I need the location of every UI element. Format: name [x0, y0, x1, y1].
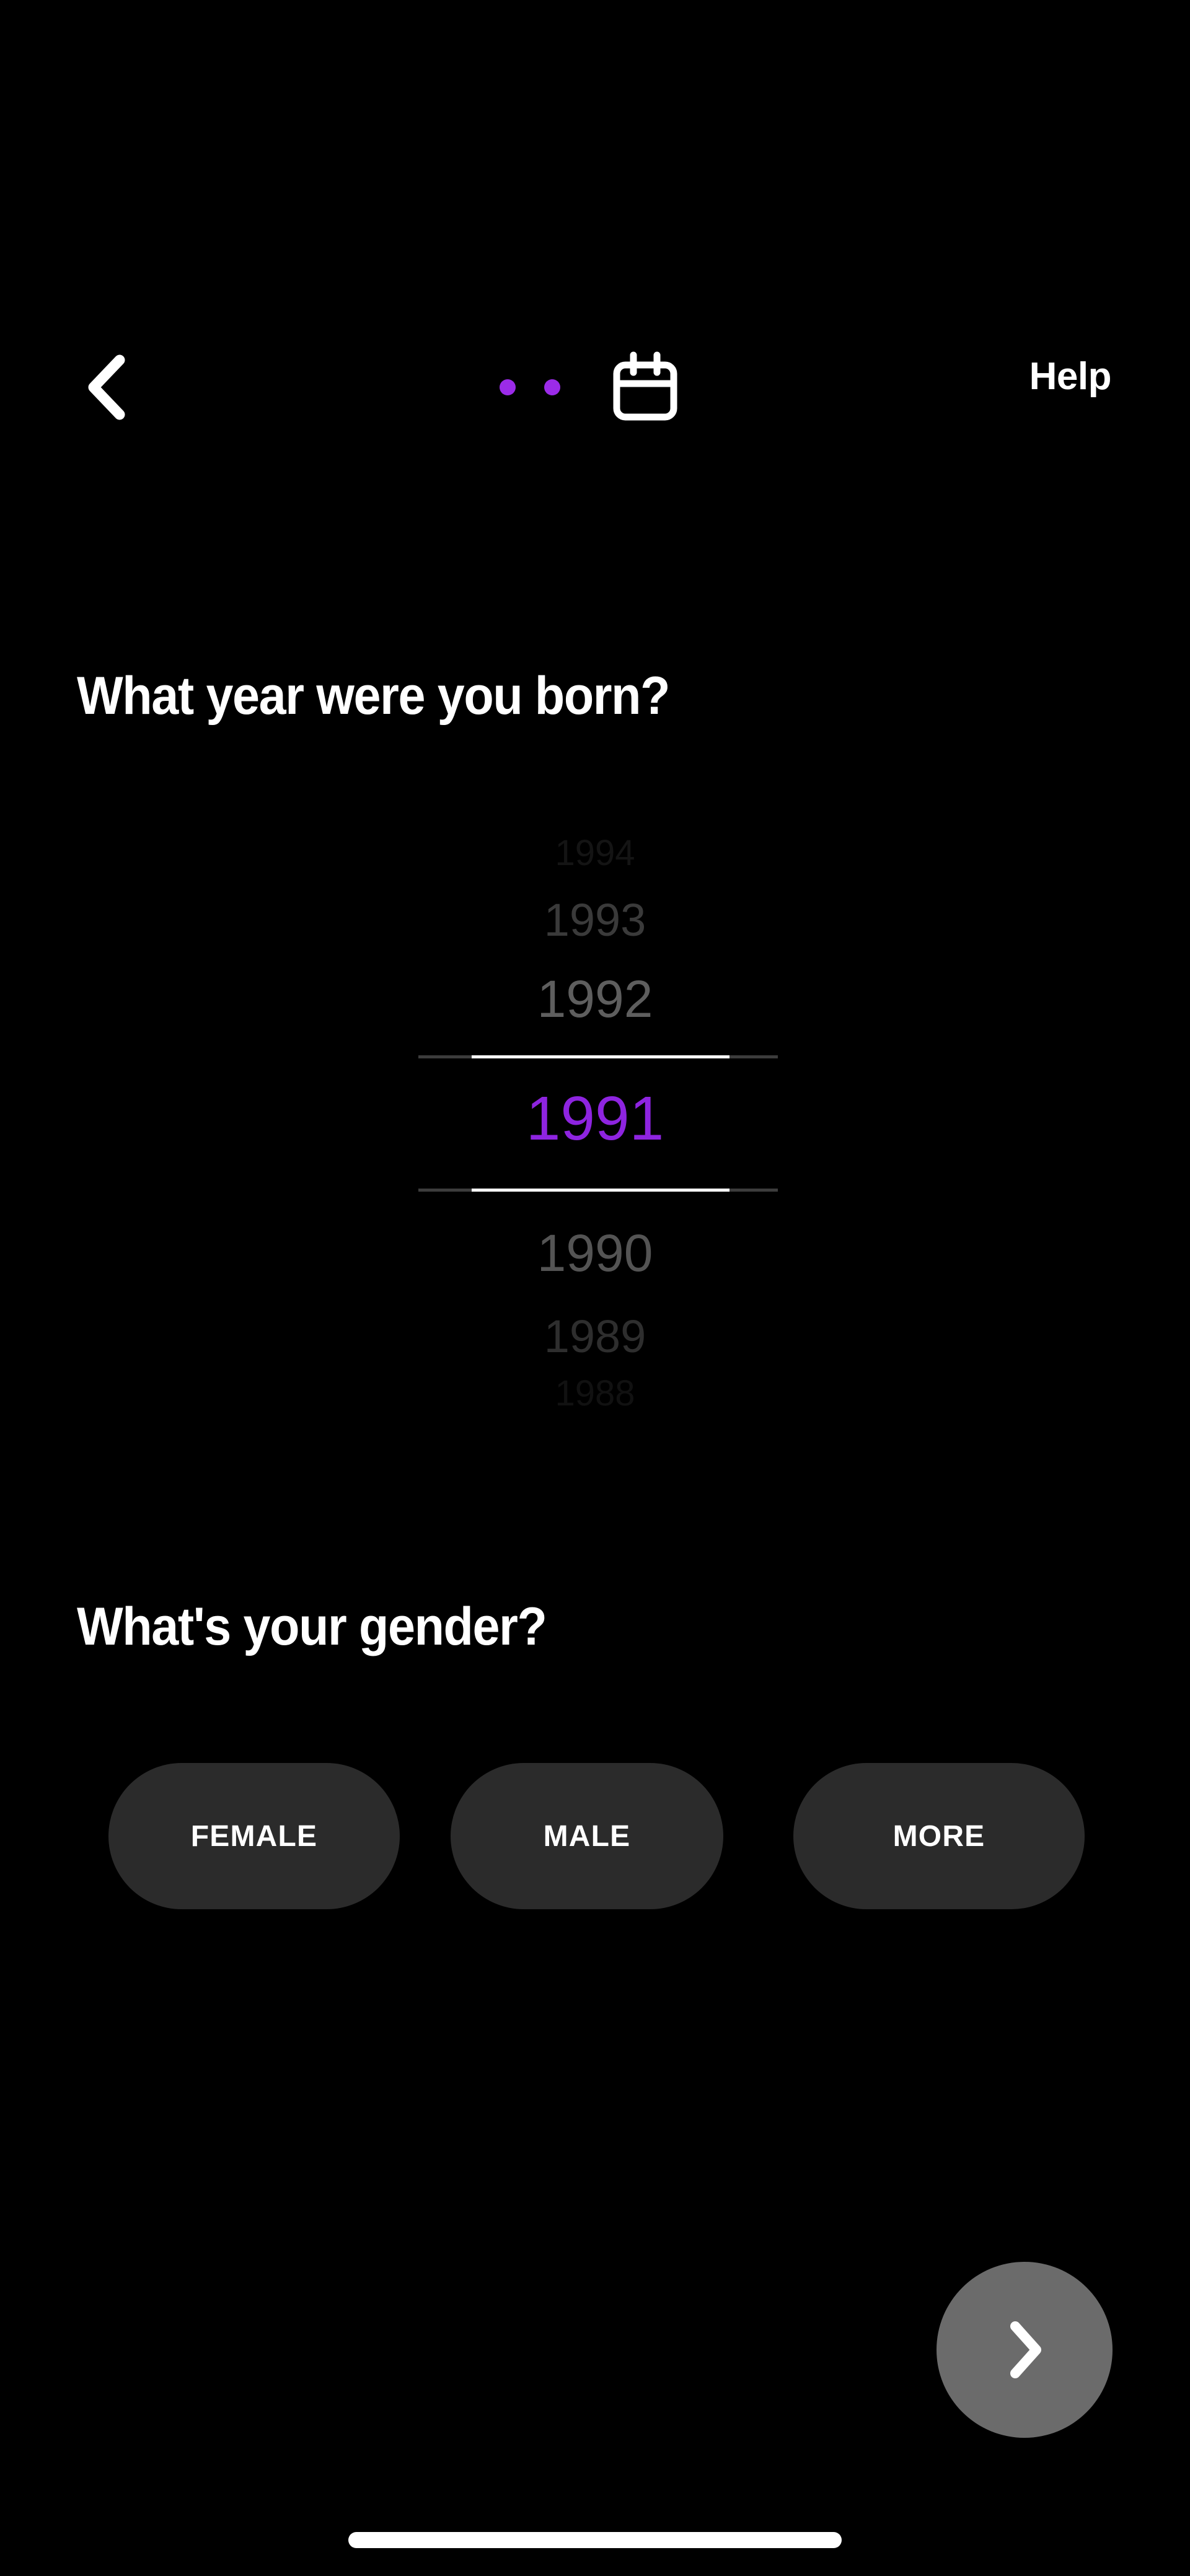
gender-question-title: What's your gender? [77, 1599, 546, 1655]
chevron-right-icon [1004, 2320, 1045, 2380]
year-option-ghost-bottom[interactable]: 1988 [297, 1376, 892, 1412]
gender-option-male[interactable]: MALE [451, 1763, 723, 1909]
year-option-selected[interactable]: 1991 [297, 1088, 892, 1150]
step-dot-2 [544, 379, 560, 395]
onboarding-screen: Help What year were you born? 1994 1993 … [0, 0, 1190, 2576]
step-dot-1 [500, 379, 516, 395]
chevron-left-icon [85, 354, 126, 421]
back-button[interactable] [65, 350, 146, 424]
year-option-1989[interactable]: 1989 [297, 1314, 892, 1360]
year-picker-list[interactable]: 1994 1993 1992 1991 1990 1989 1988 [297, 824, 892, 1382]
picker-divider-top [418, 1055, 778, 1058]
progress-dots [500, 376, 574, 398]
gender-option-more[interactable]: MORE [793, 1763, 1085, 1909]
year-option-ghost-top[interactable]: 1994 [297, 835, 892, 871]
help-link[interactable]: Help [1029, 358, 1111, 396]
app-header: Help [0, 158, 1190, 301]
home-indicator-bar [348, 2532, 842, 2548]
year-picker[interactable]: 1994 1993 1992 1991 1990 1989 1988 [297, 824, 892, 1382]
year-option-1992[interactable]: 1992 [297, 973, 892, 1025]
gender-option-female[interactable]: FEMALE [108, 1763, 400, 1909]
gender-options-group: FEMALE MALE MORE [108, 1763, 1085, 1909]
picker-divider-bottom [418, 1189, 778, 1192]
next-button[interactable] [937, 2262, 1113, 2438]
calendar-icon [610, 351, 680, 423]
year-question-title: What year were you born? [77, 668, 669, 724]
year-option-1990[interactable]: 1990 [297, 1227, 892, 1279]
year-option-1993[interactable]: 1993 [297, 897, 892, 943]
